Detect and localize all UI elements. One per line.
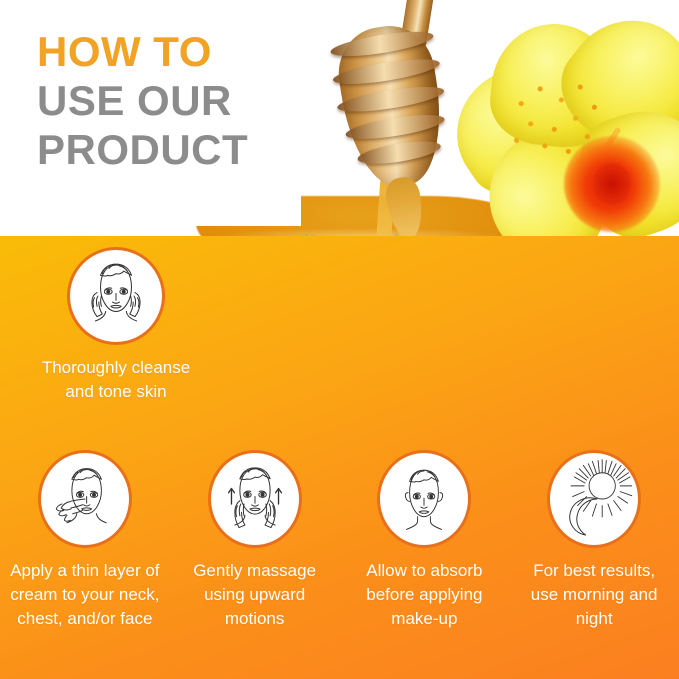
step-1-icon-circle xyxy=(67,247,165,345)
step-2: Apply a thin layer of cream to your neck… xyxy=(0,450,170,631)
title-line-1: HOW TO xyxy=(37,27,301,76)
how-to-use-product-poster: HOW TO USE OUR PRODUCT xyxy=(0,0,679,679)
face-apply-cream-one-hand-icon xyxy=(44,456,126,542)
hibiscus-flower xyxy=(444,18,679,236)
face-cleansing-two-hands-icon xyxy=(73,253,159,339)
step-5-icon-circle xyxy=(547,450,641,548)
step-4: Allow to absorb before applying make-up xyxy=(340,450,510,631)
flower-center xyxy=(564,136,660,232)
steps-row: Apply a thin layer of cream to your neck… xyxy=(0,450,679,631)
step-3: Gently massage using upward motions xyxy=(170,450,340,631)
step-3-icon-circle xyxy=(208,450,302,548)
title-line-2: USE OUR xyxy=(37,76,301,125)
step-1-caption: Thoroughly cleanse and tone skin xyxy=(30,356,202,404)
step-2-icon-circle xyxy=(38,450,132,548)
step-5: For best results, use morning and night xyxy=(509,450,679,631)
step-1: Thoroughly cleanse and tone skin xyxy=(30,247,202,404)
step-4-caption: Allow to absorb before applying make-up xyxy=(340,559,510,631)
step-4-icon-circle xyxy=(377,450,471,548)
plain-face-icon xyxy=(384,456,464,542)
face-massage-upward-arrows-icon xyxy=(213,456,297,542)
title-line-3: PRODUCT xyxy=(37,125,301,174)
sun-and-moon-icon xyxy=(553,457,635,541)
step-5-caption: For best results, use morning and night xyxy=(509,559,679,631)
title-card: HOW TO USE OUR PRODUCT xyxy=(0,0,301,226)
step-2-caption: Apply a thin layer of cream to your neck… xyxy=(0,559,170,631)
step-3-caption: Gently massage using upward motions xyxy=(170,559,340,631)
